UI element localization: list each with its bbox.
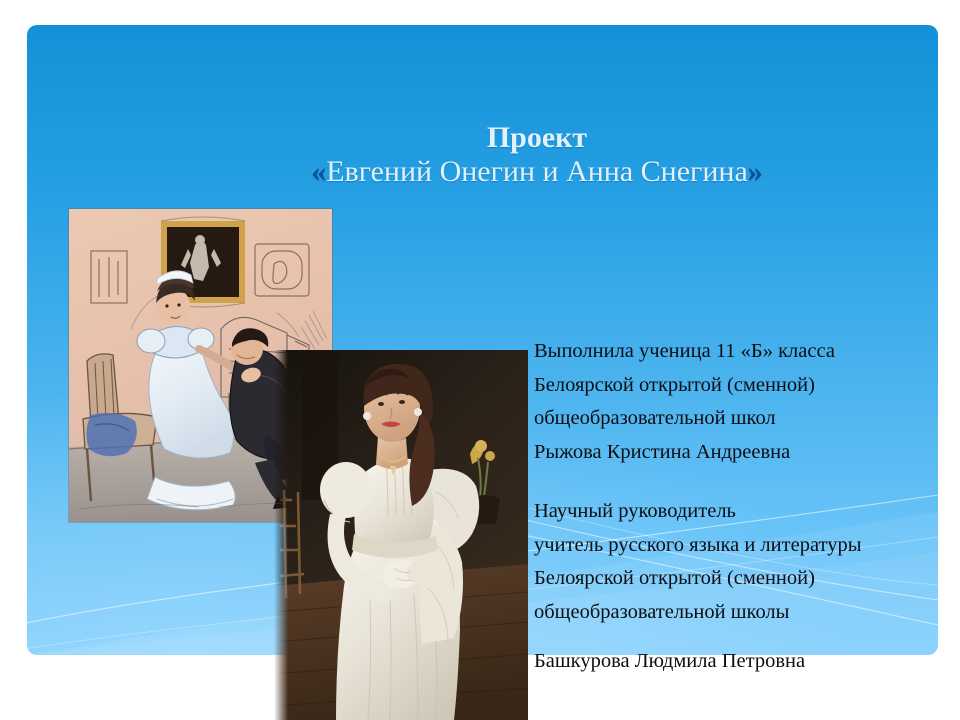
guillemet-open: « (311, 155, 326, 188)
title-line-2: «Евгений Онегин и Анна Снегина» (227, 155, 847, 189)
author-line-1: Выполнила ученица 11 «Б» класса (534, 335, 934, 369)
author-line-3: общеобразовательной школ (534, 402, 934, 436)
slide-title: Проект «Евгений Онегин и Анна Снегина» (227, 121, 847, 189)
supervisor-line-4: общеобразовательной школы (534, 596, 934, 630)
supervisor-line-1: Научный руководитель (534, 495, 934, 529)
guillemet-close: » (748, 155, 763, 188)
text-spacer (534, 469, 934, 495)
supervisor-line-2: учитель русского языка и литературы (534, 529, 934, 563)
title-line-1: Проект (227, 121, 847, 155)
supervisor-line-5: Башкурова Людмила Петровна (534, 645, 805, 679)
supervisor-line-3: Белоярской открытой (сменной) (534, 562, 934, 596)
slide-body-text: Выполнила ученица 11 «Б» класса Белоярск… (534, 335, 934, 629)
image-anna-snegina-stage-photo (274, 350, 528, 720)
slide-canvas: Проект «Евгений Онегин и Анна Снегина» (0, 0, 960, 720)
title-work-name: Евгений Онегин и Анна Снегина (326, 155, 748, 188)
stage-photo-art (274, 350, 528, 720)
author-line-4: Рыжова Кристина Андреевна (534, 436, 934, 470)
author-line-2: Белоярской открытой (сменной) (534, 369, 934, 403)
